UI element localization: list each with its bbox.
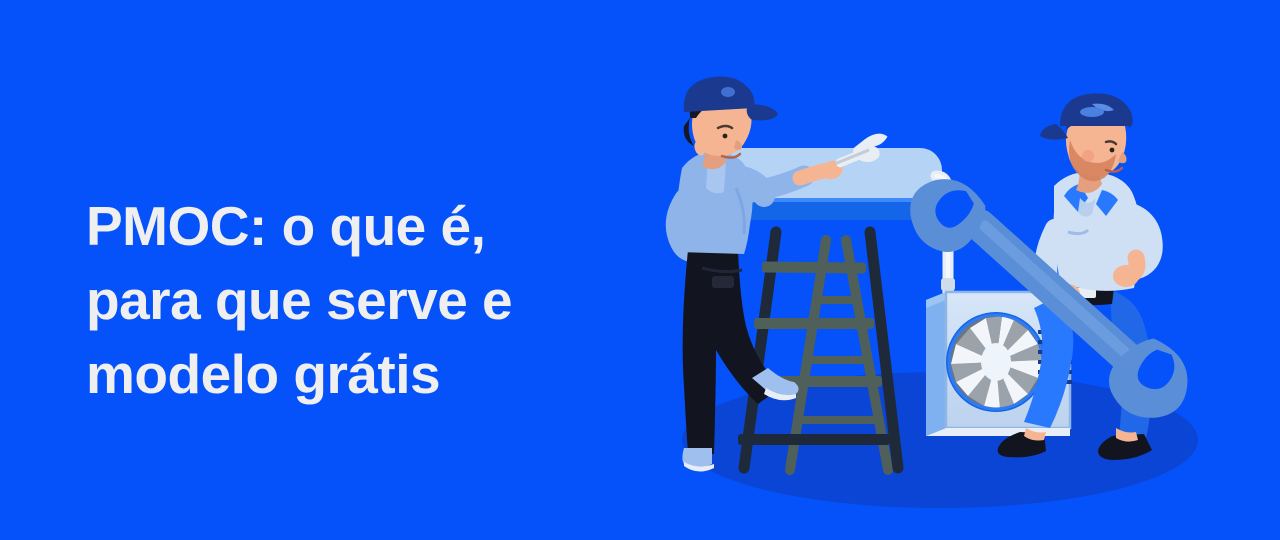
- hvac-technicians-illustration: [640, 0, 1280, 540]
- headline-line-3: modelo grátis: [86, 337, 646, 411]
- headline-line-2: para que serve e: [86, 263, 646, 337]
- hero-banner: PMOC: o que é, para que serve e modelo g…: [0, 0, 1280, 540]
- condenser-fan: [946, 312, 1046, 412]
- step-ladder: [738, 232, 898, 470]
- page-title: PMOC: o que é, para que serve e modelo g…: [86, 189, 646, 411]
- headline-line-1: PMOC: o que é,: [86, 189, 646, 263]
